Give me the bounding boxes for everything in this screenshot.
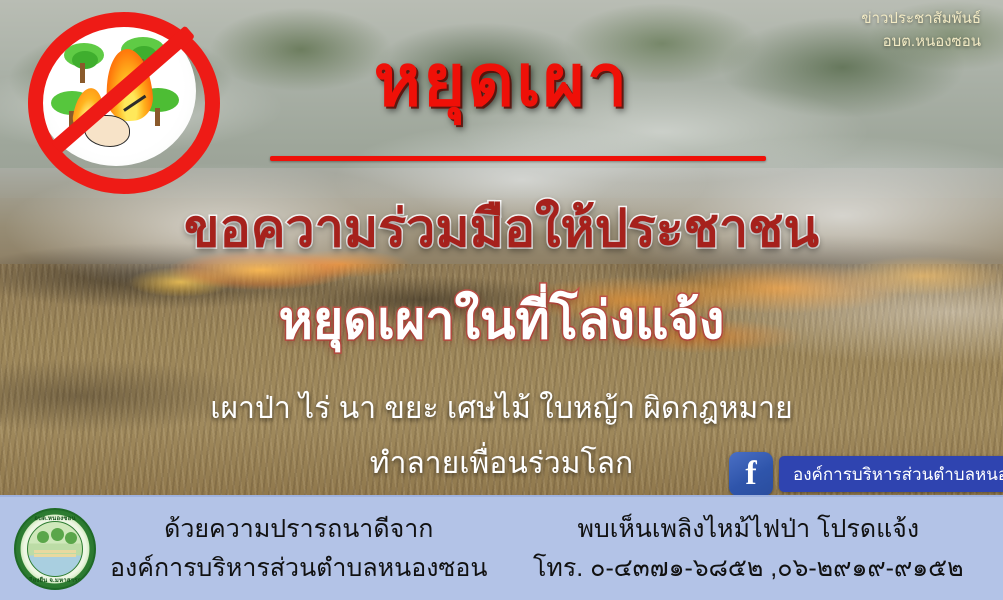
poster-canvas: ข่าวประชาสัมพันธ์ อบต.หนองซอน หยุดเผา ขอ… (0, 0, 1003, 600)
facebook-page-label[interactable]: องค์การบริหารส่วนตำบลหนองซอน (779, 456, 1003, 492)
footer-org-name: องค์การบริหารส่วนตำบลหนองซอน (110, 549, 488, 588)
subheadline-2: หยุดเผาในที่โล่งแจ้ง (0, 278, 1003, 361)
seal-inner (27, 521, 83, 577)
facebook-badge[interactable]: f องค์การบริหารส่วนตำบลหนองซอน (729, 452, 1003, 496)
footer-report-line: พบเห็นเพลิงไหม้ไฟป่า โปรดแจ้ง (502, 510, 996, 549)
government-seal-icon: อบต.หนองซอน อ.เชียงยืน จ.มหาสารคาม (14, 508, 96, 590)
title-divider (270, 156, 766, 161)
footer-phone-number: โทร. ๐-๔๓๗๑-๖๘๕๒ ,๐๖-๒๙๑๙-๙๑๕๒ (502, 549, 996, 588)
footer-left-text: ด้วยความปรารถนาดีจาก องค์การบริหารส่วนตำ… (110, 510, 488, 588)
footer-wishes-line: ด้วยความปรารถนาดีจาก (110, 510, 488, 549)
footer-bar: อบต.หนองซอน อ.เชียงยืน จ.มหาสารคาม ด้วยค… (0, 495, 1003, 600)
facebook-glyph: f (729, 457, 773, 491)
subheadline-1: ขอความร่วมมือให้ประชาชน (0, 186, 1003, 269)
page-title: หยุดเผา (0, 22, 1003, 137)
body-text-1: เผาป่า ไร่ นา ขยะ เศษไม้ ใบหญ้า ผิดกฎหมา… (0, 385, 1003, 432)
facebook-icon[interactable]: f (729, 452, 773, 496)
footer-right: พบเห็นเพลิงไหม้ไฟป่า โปรดแจ้ง โทร. ๐-๔๓๗… (502, 510, 1003, 588)
seal-text-bottom: อ.เชียงยืน จ.มหาสารคาม (16, 575, 94, 585)
footer-left: อบต.หนองซอน อ.เชียงยืน จ.มหาสารคาม ด้วยค… (0, 508, 502, 590)
